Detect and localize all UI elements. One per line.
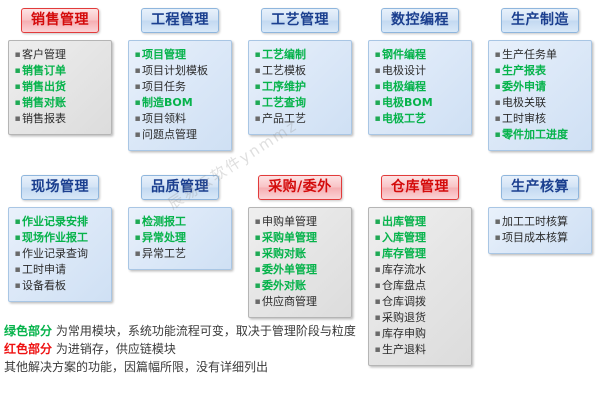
list-item[interactable]: ▪电极工艺 bbox=[373, 111, 467, 127]
list-item-label: 委外申请 bbox=[502, 79, 546, 95]
list-item[interactable]: ▪工艺模板 bbox=[253, 63, 347, 79]
list-item-label: 加工工时核算 bbox=[502, 214, 568, 230]
bullet-dot-icon: ▪ bbox=[133, 214, 142, 230]
list-item-label: 工艺编制 bbox=[262, 47, 306, 63]
bullet-dot-icon: ▪ bbox=[253, 47, 262, 63]
list-item-label: 检测报工 bbox=[142, 214, 186, 230]
bullet-dot-icon: ▪ bbox=[13, 230, 22, 246]
module-header-production-manufacturing[interactable]: 生产制造 bbox=[501, 8, 579, 33]
list-item-label: 电极关联 bbox=[502, 95, 546, 111]
list-item[interactable]: ▪产品工艺 bbox=[253, 111, 347, 127]
bullet-dot-icon: ▪ bbox=[133, 127, 142, 143]
bullet-dot-icon: ▪ bbox=[13, 246, 22, 262]
bullet-dot-icon: ▪ bbox=[13, 111, 22, 127]
bullet-dot-icon: ▪ bbox=[133, 79, 142, 95]
module-header-production-accounting[interactable]: 生产核算 bbox=[501, 175, 579, 200]
list-item-label: 项目成本核算 bbox=[502, 230, 568, 246]
module-body-purchasing-outsourcing: ▪申购单管理▪采购单管理▪采购对账▪委外单管理▪委外对账▪供应商管理 bbox=[248, 207, 352, 318]
list-item[interactable]: ▪工时审核 bbox=[493, 111, 587, 127]
bullet-dot-icon: ▪ bbox=[253, 294, 262, 310]
legend-line: 红色部分 为进销存，供应链模块 bbox=[4, 340, 474, 358]
list-item-label: 工艺模板 bbox=[262, 63, 306, 79]
legend-key: 绿色部分 bbox=[4, 324, 52, 338]
legend: 绿色部分 为常用模块，系统功能流程可变，取决于管理阶段与粒度红色部分 为进销存，… bbox=[4, 322, 474, 376]
list-item[interactable]: ▪工艺编制 bbox=[253, 47, 347, 63]
list-item[interactable]: ▪作业记录安排 bbox=[13, 214, 107, 230]
module-header-engineering-management[interactable]: 工程管理 bbox=[141, 8, 219, 33]
list-item[interactable]: ▪生产任务单 bbox=[493, 47, 587, 63]
bullet-dot-icon: ▪ bbox=[13, 47, 22, 63]
list-item[interactable]: ▪入库管理 bbox=[373, 230, 467, 246]
list-item[interactable]: ▪项目任务 bbox=[133, 79, 227, 95]
bullet-dot-icon: ▪ bbox=[133, 111, 142, 127]
list-item[interactable]: ▪委外单管理 bbox=[253, 262, 347, 278]
list-item[interactable]: ▪供应商管理 bbox=[253, 294, 347, 310]
list-item[interactable]: ▪作业记录查询 bbox=[13, 246, 107, 262]
list-item[interactable]: ▪仓库盘点 bbox=[373, 278, 467, 294]
list-item[interactable]: ▪采购对账 bbox=[253, 246, 347, 262]
module-item-list-quality-management: ▪检测报工▪异常处理▪异常工艺 bbox=[133, 214, 227, 262]
module-body-process-management: ▪工艺编制▪工艺模板▪工序维护▪工艺查询▪产品工艺 bbox=[248, 40, 352, 135]
module-item-list-production-manufacturing: ▪生产任务单▪生产报表▪委外申请▪电极关联▪工时审核▪零件加工进度 bbox=[493, 47, 587, 143]
bullet-dot-icon: ▪ bbox=[373, 214, 382, 230]
list-item-label: 客户管理 bbox=[22, 47, 66, 63]
list-item[interactable]: ▪加工工时核算 bbox=[493, 214, 587, 230]
list-item-label: 产品工艺 bbox=[262, 111, 306, 127]
legend-text: 其他解决方案的功能，因篇幅所限，没有详细列出 bbox=[4, 360, 268, 374]
bullet-dot-icon: ▪ bbox=[133, 95, 142, 111]
list-item-label: 问题点管理 bbox=[142, 127, 197, 143]
list-item-label: 委外对账 bbox=[262, 278, 306, 294]
bullet-dot-icon: ▪ bbox=[493, 95, 502, 111]
list-item-label: 作业记录安排 bbox=[22, 214, 88, 230]
list-item-label: 工时申请 bbox=[22, 262, 66, 278]
bullet-dot-icon: ▪ bbox=[253, 95, 262, 111]
module-body-sales-management: ▪客户管理▪销售订单▪销售出货▪销售对账▪销售报表 bbox=[8, 40, 112, 135]
list-item-label: 电极工艺 bbox=[382, 111, 426, 127]
bullet-dot-icon: ▪ bbox=[373, 79, 382, 95]
list-item-label: 异常工艺 bbox=[142, 246, 186, 262]
list-item[interactable]: ▪电极编程 bbox=[373, 79, 467, 95]
bullet-dot-icon: ▪ bbox=[373, 230, 382, 246]
list-item-label: 入库管理 bbox=[382, 230, 426, 246]
list-item[interactable]: ▪异常工艺 bbox=[133, 246, 227, 262]
list-item-label: 申购单管理 bbox=[262, 214, 317, 230]
list-item[interactable]: ▪制造BOM bbox=[133, 95, 227, 111]
module-row-top: 销售管理▪客户管理▪销售订单▪销售出货▪销售对账▪销售报表工程管理▪项目管理▪项… bbox=[0, 8, 600, 151]
module-header-sales-management[interactable]: 销售管理 bbox=[21, 8, 99, 33]
legend-line: 绿色部分 为常用模块，系统功能流程可变，取决于管理阶段与粒度 bbox=[4, 322, 474, 340]
list-item-label: 工时审核 bbox=[502, 111, 546, 127]
bullet-dot-icon: ▪ bbox=[373, 262, 382, 278]
list-item[interactable]: ▪销售订单 bbox=[13, 63, 107, 79]
legend-text: 为常用模块，系统功能流程可变，取决于管理阶段与粒度 bbox=[52, 324, 356, 338]
bullet-dot-icon: ▪ bbox=[373, 63, 382, 79]
list-item[interactable]: ▪电极设计 bbox=[373, 63, 467, 79]
module-header-purchasing-outsourcing[interactable]: 采购/委外 bbox=[258, 175, 342, 200]
list-item[interactable]: ▪客户管理 bbox=[13, 47, 107, 63]
list-item-label: 钢件编程 bbox=[382, 47, 426, 63]
list-item-label: 供应商管理 bbox=[262, 294, 317, 310]
list-item-label: 出库管理 bbox=[382, 214, 426, 230]
list-item-label: 作业记录查询 bbox=[22, 246, 88, 262]
list-item[interactable]: ▪检测报工 bbox=[133, 214, 227, 230]
module-body-production-manufacturing: ▪生产任务单▪生产报表▪委外申请▪电极关联▪工时审核▪零件加工进度 bbox=[488, 40, 592, 151]
module-body-cnc-programming: ▪钢件编程▪电极设计▪电极编程▪电极BOM▪电极工艺 bbox=[368, 40, 472, 135]
bullet-dot-icon: ▪ bbox=[13, 262, 22, 278]
module-header-warehouse-management[interactable]: 仓库管理 bbox=[381, 175, 459, 200]
list-item[interactable]: ▪销售出货 bbox=[13, 79, 107, 95]
list-item-label: 采购对账 bbox=[262, 246, 306, 262]
bullet-dot-icon: ▪ bbox=[373, 111, 382, 127]
list-item-label: 现场作业报工 bbox=[22, 230, 88, 246]
module-item-list-purchasing-outsourcing: ▪申购单管理▪采购单管理▪采购对账▪委外单管理▪委外对账▪供应商管理 bbox=[253, 214, 347, 310]
bullet-dot-icon: ▪ bbox=[493, 127, 502, 143]
list-item-label: 设备看板 bbox=[22, 278, 66, 294]
bullet-dot-icon: ▪ bbox=[133, 246, 142, 262]
list-item[interactable]: ▪设备看板 bbox=[13, 278, 107, 294]
list-item[interactable]: ▪钢件编程 bbox=[373, 47, 467, 63]
list-item-label: 销售报表 bbox=[22, 111, 66, 127]
module-header-quality-management[interactable]: 品质管理 bbox=[141, 175, 219, 200]
module-header-cnc-programming[interactable]: 数控编程 bbox=[381, 8, 459, 33]
bullet-dot-icon: ▪ bbox=[253, 246, 262, 262]
list-item-label: 零件加工进度 bbox=[502, 127, 568, 143]
bullet-dot-icon: ▪ bbox=[373, 246, 382, 262]
bullet-dot-icon: ▪ bbox=[373, 47, 382, 63]
module-production-accounting: 生产核算▪加工工时核算▪项目成本核算 bbox=[480, 175, 600, 366]
bullet-dot-icon: ▪ bbox=[253, 63, 262, 79]
list-item[interactable]: ▪销售报表 bbox=[13, 111, 107, 127]
legend-line: 其他解决方案的功能，因篇幅所限，没有详细列出 bbox=[4, 358, 474, 376]
list-item-label: 制造BOM bbox=[142, 95, 193, 111]
list-item-label: 销售出货 bbox=[22, 79, 66, 95]
bullet-dot-icon: ▪ bbox=[253, 111, 262, 127]
list-item-label: 生产任务单 bbox=[502, 47, 557, 63]
module-sales-management: 销售管理▪客户管理▪销售订单▪销售出货▪销售对账▪销售报表 bbox=[0, 8, 120, 151]
module-item-list-production-accounting: ▪加工工时核算▪项目成本核算 bbox=[493, 214, 587, 246]
module-body-engineering-management: ▪项目管理▪项目计划模板▪项目任务▪制造BOM▪项目领料▪问题点管理 bbox=[128, 40, 232, 151]
list-item[interactable]: ▪项目管理 bbox=[133, 47, 227, 63]
module-item-list-shopfloor-management: ▪作业记录安排▪现场作业报工▪作业记录查询▪工时申请▪设备看板 bbox=[13, 214, 107, 294]
module-cnc-programming: 数控编程▪钢件编程▪电极设计▪电极编程▪电极BOM▪电极工艺 bbox=[360, 8, 480, 151]
list-item-label: 电极编程 bbox=[382, 79, 426, 95]
list-item[interactable]: ▪采购单管理 bbox=[253, 230, 347, 246]
list-item-label: 工序维护 bbox=[262, 79, 306, 95]
list-item-label: 仓库调拨 bbox=[382, 294, 426, 310]
diagram-canvas: 辰易云软件ynmmz 销售管理▪客户管理▪销售订单▪销售出货▪销售对账▪销售报表… bbox=[0, 0, 600, 400]
list-item[interactable]: ▪委外对账 bbox=[253, 278, 347, 294]
list-item[interactable]: ▪销售对账 bbox=[13, 95, 107, 111]
list-item[interactable]: ▪电极关联 bbox=[493, 95, 587, 111]
list-item[interactable]: ▪工艺查询 bbox=[253, 95, 347, 111]
list-item-label: 项目任务 bbox=[142, 79, 186, 95]
list-item[interactable]: ▪零件加工进度 bbox=[493, 127, 587, 143]
list-item[interactable]: ▪项目计划模板 bbox=[133, 63, 227, 79]
module-body-quality-management: ▪检测报工▪异常处理▪异常工艺 bbox=[128, 207, 232, 270]
list-item[interactable]: ▪工时申请 bbox=[13, 262, 107, 278]
list-item[interactable]: ▪申购单管理 bbox=[253, 214, 347, 230]
list-item[interactable]: ▪项目领料 bbox=[133, 111, 227, 127]
list-item-label: 委外单管理 bbox=[262, 262, 317, 278]
module-item-list-sales-management: ▪客户管理▪销售订单▪销售出货▪销售对账▪销售报表 bbox=[13, 47, 107, 127]
list-item[interactable]: ▪现场作业报工 bbox=[13, 230, 107, 246]
bullet-dot-icon: ▪ bbox=[493, 111, 502, 127]
bullet-dot-icon: ▪ bbox=[13, 278, 22, 294]
bullet-dot-icon: ▪ bbox=[493, 79, 502, 95]
list-item-label: 电极BOM bbox=[382, 95, 433, 111]
bullet-dot-icon: ▪ bbox=[253, 278, 262, 294]
list-item-label: 项目管理 bbox=[142, 47, 186, 63]
bullet-dot-icon: ▪ bbox=[493, 63, 502, 79]
module-item-list-cnc-programming: ▪钢件编程▪电极设计▪电极编程▪电极BOM▪电极工艺 bbox=[373, 47, 467, 127]
list-item-label: 仓库盘点 bbox=[382, 278, 426, 294]
bullet-dot-icon: ▪ bbox=[13, 63, 22, 79]
module-body-shopfloor-management: ▪作业记录安排▪现场作业报工▪作业记录查询▪工时申请▪设备看板 bbox=[8, 207, 112, 302]
list-item-label: 工艺查询 bbox=[262, 95, 306, 111]
list-item[interactable]: ▪库存管理 bbox=[373, 246, 467, 262]
module-item-list-engineering-management: ▪项目管理▪项目计划模板▪项目任务▪制造BOM▪项目领料▪问题点管理 bbox=[133, 47, 227, 143]
bullet-dot-icon: ▪ bbox=[253, 230, 262, 246]
bullet-dot-icon: ▪ bbox=[133, 47, 142, 63]
bullet-dot-icon: ▪ bbox=[253, 79, 262, 95]
list-item[interactable]: ▪仓库调拨 bbox=[373, 294, 467, 310]
list-item-label: 采购单管理 bbox=[262, 230, 317, 246]
list-item-label: 电极设计 bbox=[382, 63, 426, 79]
list-item[interactable]: ▪电极BOM bbox=[373, 95, 467, 111]
list-item-label: 异常处理 bbox=[142, 230, 186, 246]
bullet-dot-icon: ▪ bbox=[373, 294, 382, 310]
legend-key: 红色部分 bbox=[4, 342, 52, 356]
bullet-dot-icon: ▪ bbox=[373, 278, 382, 294]
bullet-dot-icon: ▪ bbox=[13, 95, 22, 111]
list-item[interactable]: ▪出库管理 bbox=[373, 214, 467, 230]
bullet-dot-icon: ▪ bbox=[373, 95, 382, 111]
module-header-process-management[interactable]: 工艺管理 bbox=[261, 8, 339, 33]
list-item[interactable]: ▪项目成本核算 bbox=[493, 230, 587, 246]
list-item-label: 项目计划模板 bbox=[142, 63, 208, 79]
list-item[interactable]: ▪委外申请 bbox=[493, 79, 587, 95]
list-item-label: 销售对账 bbox=[22, 95, 66, 111]
bullet-dot-icon: ▪ bbox=[253, 262, 262, 278]
legend-text: 为进销存，供应链模块 bbox=[52, 342, 176, 356]
list-item-label: 库存流水 bbox=[382, 262, 426, 278]
bullet-dot-icon: ▪ bbox=[493, 230, 502, 246]
bullet-dot-icon: ▪ bbox=[13, 79, 22, 95]
module-item-list-process-management: ▪工艺编制▪工艺模板▪工序维护▪工艺查询▪产品工艺 bbox=[253, 47, 347, 127]
list-item-label: 库存管理 bbox=[382, 246, 426, 262]
bullet-dot-icon: ▪ bbox=[253, 214, 262, 230]
list-item[interactable]: ▪异常处理 bbox=[133, 230, 227, 246]
module-body-production-accounting: ▪加工工时核算▪项目成本核算 bbox=[488, 207, 592, 254]
bullet-dot-icon: ▪ bbox=[493, 214, 502, 230]
module-header-shopfloor-management[interactable]: 现场管理 bbox=[21, 175, 99, 200]
bullet-dot-icon: ▪ bbox=[133, 230, 142, 246]
list-item[interactable]: ▪工序维护 bbox=[253, 79, 347, 95]
module-production-manufacturing: 生产制造▪生产任务单▪生产报表▪委外申请▪电极关联▪工时审核▪零件加工进度 bbox=[480, 8, 600, 151]
module-process-management: 工艺管理▪工艺编制▪工艺模板▪工序维护▪工艺查询▪产品工艺 bbox=[240, 8, 360, 151]
list-item[interactable]: ▪生产报表 bbox=[493, 63, 587, 79]
list-item[interactable]: ▪问题点管理 bbox=[133, 127, 227, 143]
list-item-label: 销售订单 bbox=[22, 63, 66, 79]
bullet-dot-icon: ▪ bbox=[13, 214, 22, 230]
list-item-label: 项目领料 bbox=[142, 111, 186, 127]
bullet-dot-icon: ▪ bbox=[133, 63, 142, 79]
module-engineering-management: 工程管理▪项目管理▪项目计划模板▪项目任务▪制造BOM▪项目领料▪问题点管理 bbox=[120, 8, 240, 151]
list-item-label: 生产报表 bbox=[502, 63, 546, 79]
bullet-dot-icon: ▪ bbox=[493, 47, 502, 63]
list-item[interactable]: ▪库存流水 bbox=[373, 262, 467, 278]
